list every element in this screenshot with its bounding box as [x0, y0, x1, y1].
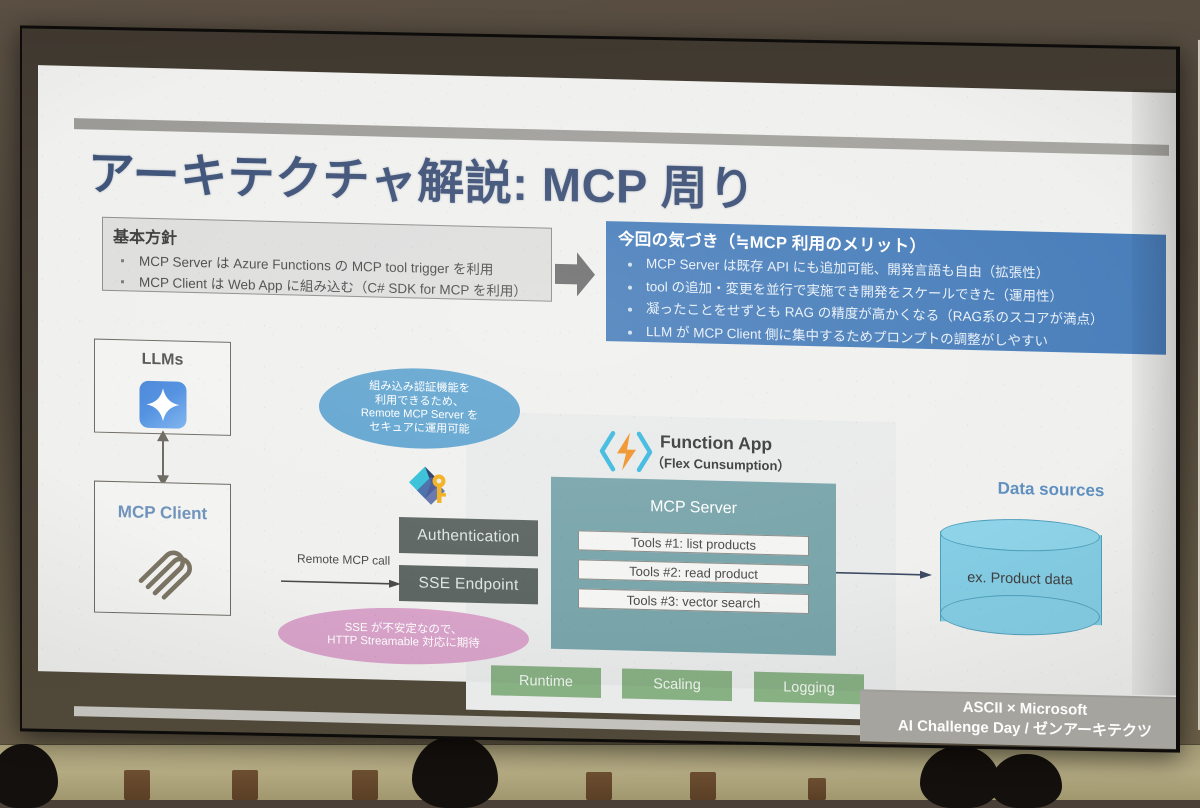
tool-chip[interactable]: Tools #2: read product [578, 559, 809, 585]
callout-sse-line: HTTP Streamable 対応に期待 [327, 634, 480, 651]
callout-auth-ellipse: 組み込み認証機能を 利用できるため、 Remote MCP Server を セ… [319, 366, 520, 451]
audience-head [920, 746, 1000, 808]
azure-functions-icon [599, 429, 653, 474]
architecture-diagram: LLMs MCP Client [38, 65, 1176, 699]
remote-mcp-call-arrow-icon [281, 576, 401, 589]
chair-back [690, 772, 716, 800]
arrow-head-up-icon [156, 430, 170, 442]
chair-back [352, 770, 378, 800]
sse-endpoint-button[interactable]: SSE Endpoint [399, 565, 538, 604]
function-app-title: Function App [660, 431, 772, 455]
remote-mcp-call-label: Remote MCP call [297, 552, 390, 568]
chair-back [586, 772, 612, 800]
platform-chip-runtime: Runtime [491, 665, 601, 698]
llms-label: LLMs [95, 350, 230, 371]
mcp-client-node: MCP Client [94, 481, 231, 616]
mcp-server-box: MCP Server Tools #1: list products Tools… [551, 477, 836, 656]
authentication-button[interactable]: Authentication [399, 517, 538, 556]
key-card-icon [405, 462, 455, 509]
llms-node: LLMs [94, 339, 231, 436]
tool-chip[interactable]: Tools #1: list products [578, 530, 809, 556]
chair-back [808, 778, 826, 800]
photo-of-presentation-screen: アーキテクチャ解説: MCP 周り 基本方針 MCP Server は Azur… [0, 0, 1200, 800]
projector-screen: アーキテクチャ解説: MCP 周り 基本方針 MCP Server は Azur… [20, 25, 1180, 752]
platform-chip-scaling: Scaling [622, 668, 732, 701]
presentation-slide: アーキテクチャ解説: MCP 周り 基本方針 MCP Server は Azur… [38, 65, 1176, 699]
projector-screen-surface: アーキテクチャ解説: MCP 周り 基本方針 MCP Server は Azur… [22, 28, 1176, 749]
data-sources-label: Data sources [971, 478, 1131, 502]
chair-back [232, 770, 258, 800]
platform-chip-logging: Logging [754, 672, 864, 705]
ai-sparkle-icon [139, 381, 186, 429]
clip-spiral-icon [127, 534, 199, 604]
event-footer-badge: ASCII × Microsoft AI Challenge Day / ゼンア… [860, 689, 1176, 749]
mcp-client-label: MCP Client [95, 502, 230, 525]
database-cylinder: ex. Product data [940, 517, 1100, 639]
chair-back [124, 770, 150, 800]
function-app-subtitle: （Flex Cunsumption） [651, 452, 790, 474]
tool-chip[interactable]: Tools #3: vector search [578, 588, 809, 614]
mcp-server-title: MCP Server [551, 496, 836, 521]
footer-line-2: AI Challenge Day / ゼンアーキテクツ [898, 716, 1152, 742]
callout-auth-line: セキュアに運用可能 [361, 421, 478, 437]
